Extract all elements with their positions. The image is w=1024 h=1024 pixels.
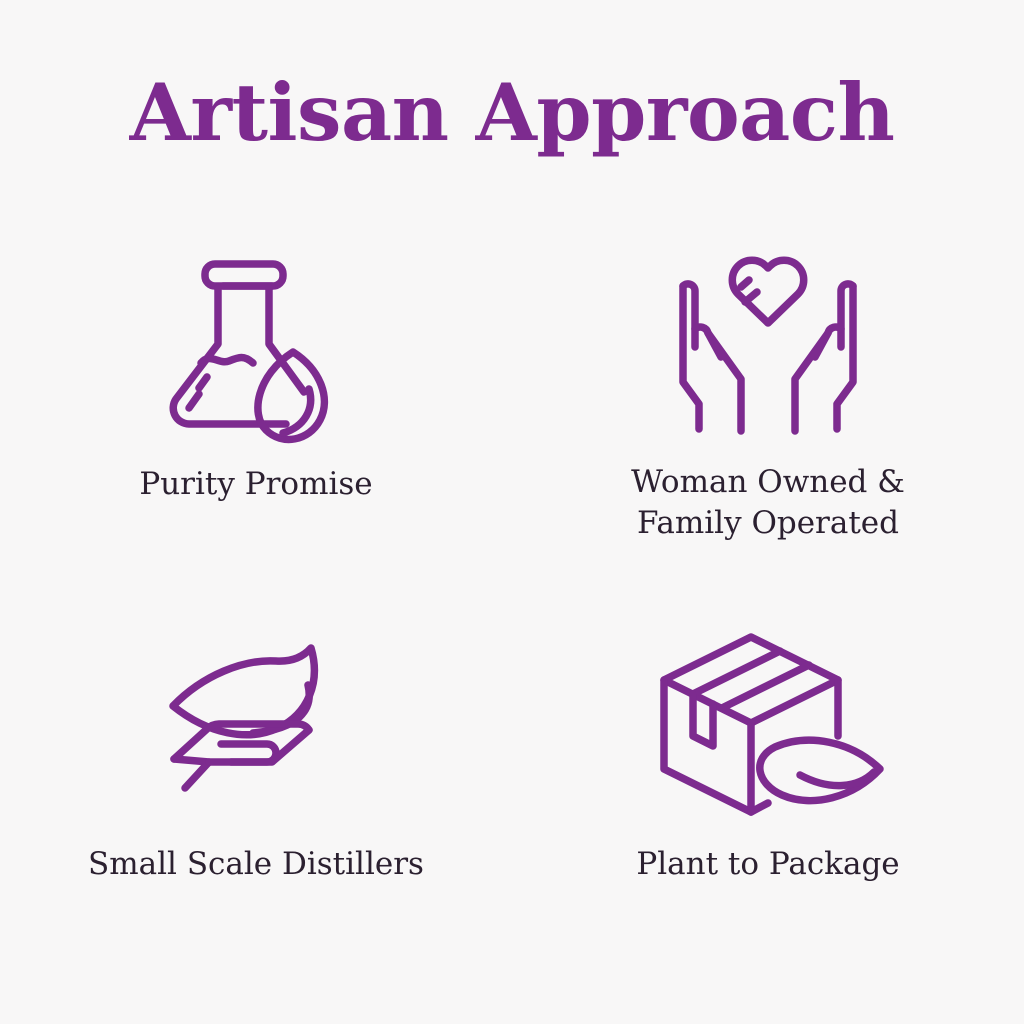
feature-item-purity-promise: Purity Promise [0,236,512,596]
feature-label: Purity Promise [139,464,372,505]
flask-leaf-icon [156,236,356,448]
feature-label: Woman Owned & Family Operated [631,462,905,544]
feature-item-woman-owned: Woman Owned & Family Operated [512,236,1024,596]
package-box-leaf-icon [648,624,888,814]
feature-grid: Purity Promise [0,236,1024,956]
page-title-container: Artisan Approach [0,72,1024,155]
leaf-in-hand-icon [151,624,361,814]
feature-item-plant-to-package: Plant to Package [512,624,1024,956]
feature-item-small-scale-distillers: Small Scale Distillers [0,624,512,956]
hands-holding-heart-icon [650,236,886,448]
feature-label: Small Scale Distillers [88,844,424,885]
artisan-approach-graphic: Artisan Approach [0,0,1024,1024]
page-title: Artisan Approach [0,72,1024,155]
feature-label: Plant to Package [636,844,899,885]
